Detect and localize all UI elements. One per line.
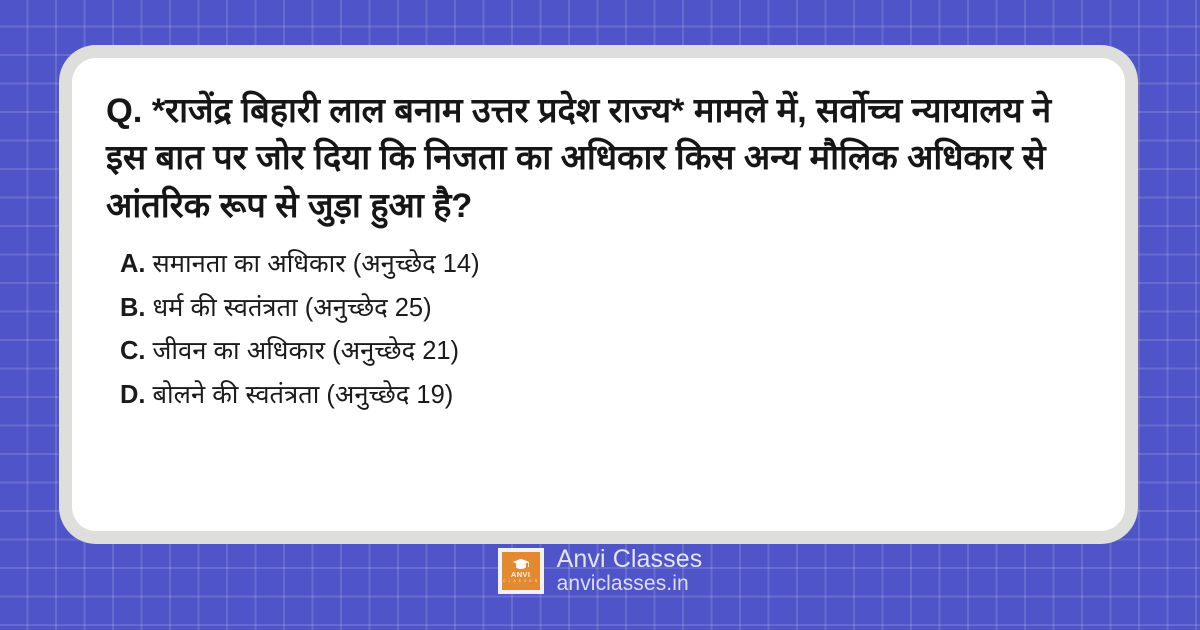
footer-branding: ANVI C L A S S E S Anvi Classes anviclas… [0,546,1200,596]
option-letter-d: D. [120,374,146,418]
option-text-d: बोलने की स्वतंत्रता (अनुच्छेद 19) [153,374,454,418]
brand-logo-name: ANVI [511,571,531,579]
brand-text-block: Anvi Classes anviclasses.in [557,546,703,596]
option-row-d[interactable]: D. बोलने की स्वतंत्रता (अनुच्छेद 19) [120,374,1091,418]
option-row-c[interactable]: C. जीवन का अधिकार (अनुच्छेद 21) [120,330,1091,374]
brand-logo-subtitle: C L A S S E S [503,580,538,583]
options-list: A. समानता का अधिकार (अनुच्छेद 14) B. धर्… [106,243,1091,418]
option-text-b: धर्म की स्वतंत्रता (अनुच्छेद 25) [153,287,432,331]
question-card: Q. *राजेंद्र बिहारी लाल बनाम उत्तर प्रदे… [72,58,1125,531]
option-letter-a: A. [120,243,146,287]
option-letter-b: B. [120,287,146,331]
brand-url[interactable]: anviclasses.in [557,573,703,596]
option-row-b[interactable]: B. धर्म की स्वतंत्रता (अनुच्छेद 25) [120,287,1091,331]
brand-logo-tile: ANVI C L A S S E S [502,552,540,590]
option-letter-c: C. [120,330,146,374]
option-row-a[interactable]: A. समानता का अधिकार (अनुच्छेद 14) [120,243,1091,287]
brand-title: Anvi Classes [557,546,703,573]
option-text-c: जीवन का अधिकार (अनुच्छेद 21) [153,330,460,374]
brand-logo: ANVI C L A S S E S [498,548,544,594]
option-text-a: समानता का अधिकार (अनुच्छेद 14) [153,243,480,287]
graduation-cap-icon [512,558,530,570]
question-text: Q. *राजेंद्र बिहारी लाल बनाम उत्तर प्रदे… [106,88,1091,230]
